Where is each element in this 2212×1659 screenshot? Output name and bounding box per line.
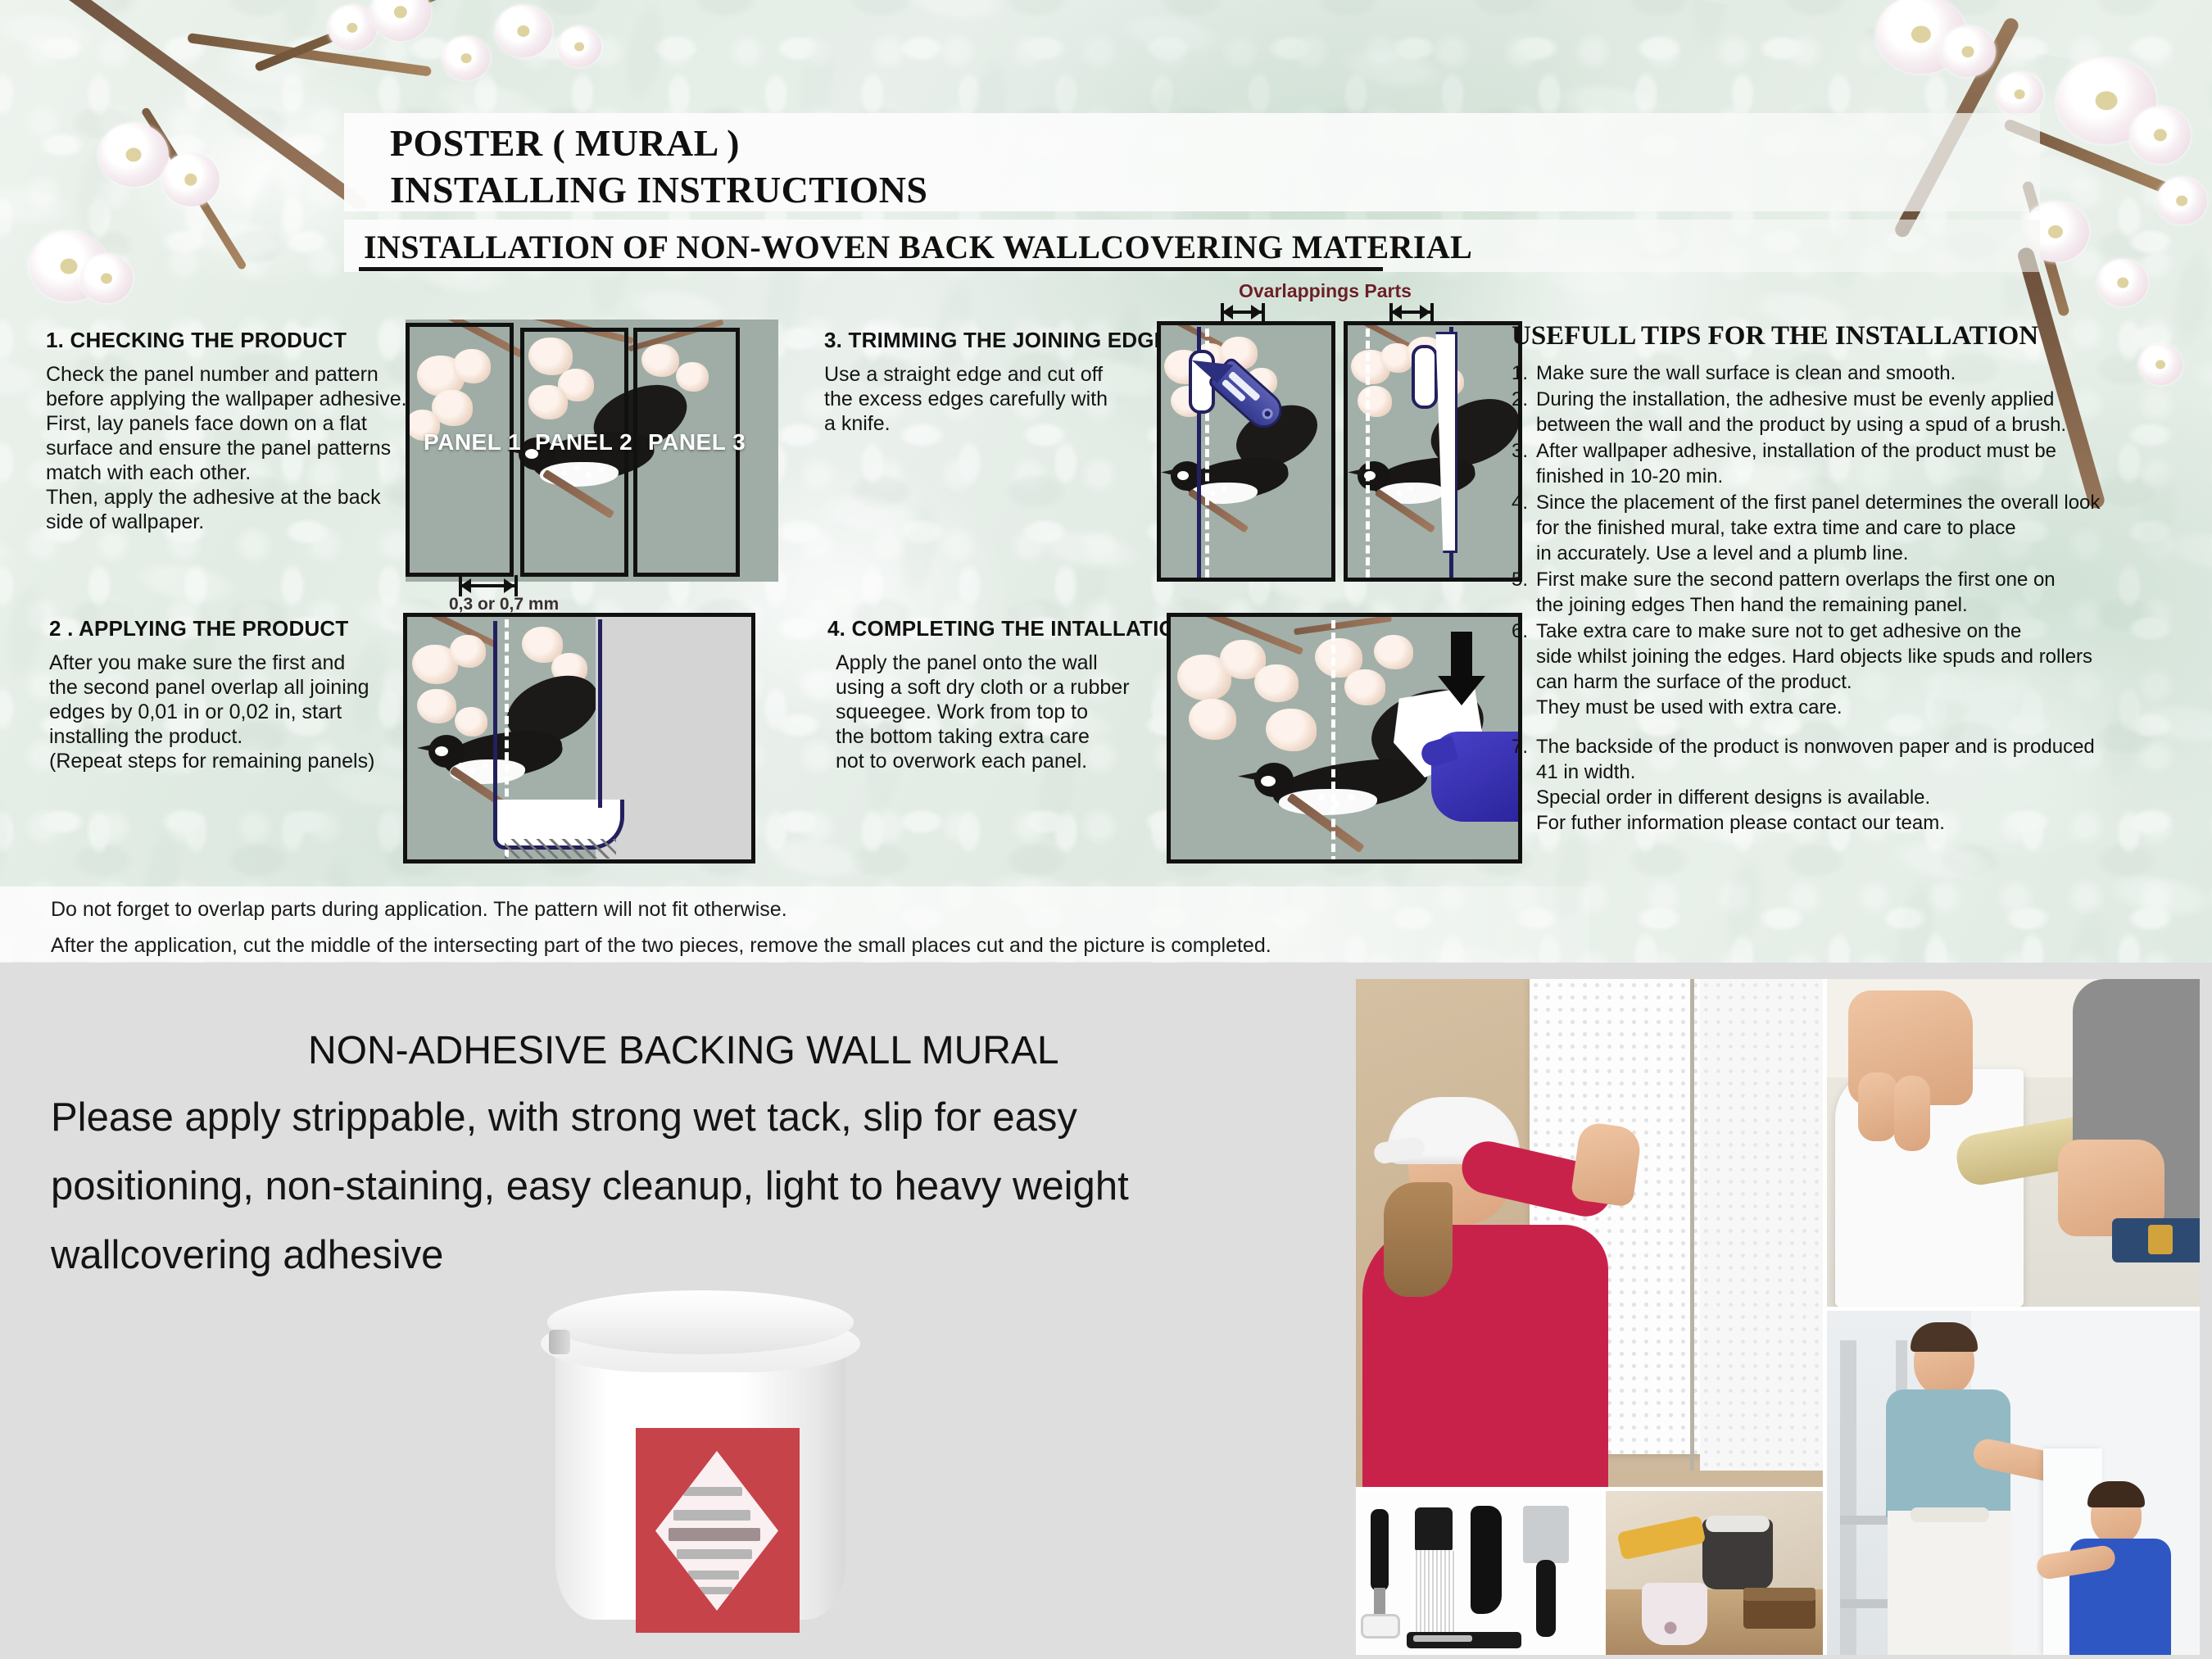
tip-6-text: Take extra care to make sure not to get … bbox=[1536, 619, 2192, 720]
seam-roller-icon bbox=[1371, 1509, 1389, 1591]
step-1-body: Check the panel number and pattern befor… bbox=[46, 362, 407, 534]
tip-6-number: 6. bbox=[1512, 619, 1536, 720]
bottom-title: NON-ADHESIVE BACKING WALL MURAL bbox=[308, 1028, 1059, 1073]
photo-roller-applying-paste bbox=[1827, 979, 2200, 1307]
photo-woman-applying-wallpaper bbox=[1356, 979, 1823, 1487]
diagram-three-panels: PANEL 1 PANEL 2 PANEL 3 bbox=[406, 320, 778, 582]
dimension-tick-right bbox=[514, 575, 518, 596]
bucket-handle-clip bbox=[549, 1330, 570, 1354]
step-4-heading: 4. COMPLETING THE INTALLATION bbox=[827, 616, 1191, 641]
smoothing-brush-icon bbox=[1415, 1507, 1453, 1553]
paste-brush bbox=[1743, 1596, 1815, 1629]
tip-5-number: 5. bbox=[1512, 567, 1536, 618]
step-1-heading: 1. CHECKING THE PRODUCT bbox=[46, 328, 347, 353]
tip-4-text: Since the placement of the first panel d… bbox=[1536, 490, 2192, 566]
step-4-line-1: Apply the panel onto the wall bbox=[836, 650, 1130, 675]
tip-item-4: 4. Since the placement of the first pane… bbox=[1512, 490, 2192, 566]
bottom-body-line-2: positioning, non-staining, easy cleanup,… bbox=[51, 1152, 1345, 1221]
tip-4-number: 4. bbox=[1512, 490, 1536, 566]
step-1-line-6: Then, apply the adhesive at the back bbox=[46, 485, 407, 510]
installation-photo-collage bbox=[1356, 979, 2200, 1655]
tip-7-text: The backside of the product is nonwoven … bbox=[1536, 734, 2192, 836]
tip-item-3: 3. After wallpaper adhesive, installatio… bbox=[1512, 438, 2192, 489]
panel-2-label: PANEL 2 bbox=[535, 429, 632, 456]
step-2-heading: 2 . APPLYING THE PRODUCT bbox=[49, 616, 349, 641]
overlap-tick-4 bbox=[1430, 303, 1434, 321]
squeegee-icon bbox=[1471, 1506, 1502, 1614]
overlap-parts-label: Ovarlappings Parts bbox=[1239, 280, 1412, 302]
tip-item-5: 5. First make sure the second pattern ov… bbox=[1512, 567, 2192, 618]
step-4-line-2: using a soft dry cloth or a rubber bbox=[836, 675, 1130, 700]
tips-spacer bbox=[1512, 721, 2192, 734]
tip-2-number: 2. bbox=[1512, 387, 1536, 437]
tip-5-text: First make sure the second pattern overl… bbox=[1536, 567, 2192, 618]
step-3-body: Use a straight edge and cut off the exce… bbox=[824, 362, 1108, 436]
step-3-line-1: Use a straight edge and cut off bbox=[824, 362, 1108, 387]
bottom-body-line-3: wallcovering adhesive bbox=[51, 1221, 1345, 1290]
putty-knife-icon bbox=[1523, 1506, 1569, 1563]
note-line-1: Do not forget to overlap parts during ap… bbox=[51, 898, 787, 922]
poster-subtitle: INSTALLATION OF NON-WOVEN BACK WALLCOVER… bbox=[364, 228, 1472, 266]
diagram-trimming-left bbox=[1157, 321, 1335, 582]
tip-item-1: 1. Make sure the wall surface is clean a… bbox=[1512, 360, 2192, 386]
man-hair bbox=[1911, 1322, 1978, 1352]
panel-1-label: PANEL 1 bbox=[424, 429, 521, 456]
tips-list: 1. Make sure the wall surface is clean a… bbox=[1512, 360, 2192, 836]
hatched-cut-area bbox=[505, 839, 616, 859]
diagram-completing bbox=[1167, 613, 1522, 863]
step-2-body: After you make sure the first and the se… bbox=[49, 650, 374, 773]
step-1-line-2: before applying the wallpaper adhesive. bbox=[46, 387, 407, 411]
dimension-label: 0,3 or 0,7 mm bbox=[449, 595, 559, 614]
adhesive-bucket-image bbox=[541, 1290, 860, 1634]
bucket-lid bbox=[547, 1290, 854, 1354]
note-line-2: After the application, cut the middle of… bbox=[51, 934, 1271, 958]
bottom-body: Please apply strippable, with strong wet… bbox=[51, 1083, 1345, 1290]
poster-title-line1: POSTER ( MURAL ) bbox=[390, 121, 740, 165]
tip-3-number: 3. bbox=[1512, 438, 1536, 489]
step-3-line-2: the excess edges carefully with bbox=[824, 387, 1108, 411]
step-4-line-3: squeegee. Work from top to bbox=[836, 700, 1130, 724]
tip-1-text: Make sure the wall surface is clean and … bbox=[1536, 360, 2192, 386]
step-4-body: Apply the panel onto the wall using a so… bbox=[836, 650, 1130, 773]
tips-heading: USEFULL TIPS FOR THE INSTALLATION bbox=[1512, 321, 2038, 351]
step-2-line-1: After you make sure the first and bbox=[49, 650, 374, 675]
step-1-line-4: surface and ensure the panel patterns bbox=[46, 436, 407, 460]
tip-item-2: 2. During the installation, the adhesive… bbox=[1512, 387, 2192, 437]
overlap-arrow-2 bbox=[1391, 310, 1430, 314]
subtitle-underline bbox=[359, 267, 1383, 271]
trim-dashed-line-right bbox=[1366, 329, 1370, 578]
step-4-line-4: the bottom taking extra care bbox=[836, 724, 1130, 749]
tip-1-number: 1. bbox=[1512, 360, 1536, 386]
tip-3-text: After wallpaper adhesive, installation o… bbox=[1536, 438, 2192, 489]
photo-tool-set bbox=[1356, 1491, 1602, 1655]
step-2-line-5: (Repeat steps for remaining panels) bbox=[49, 749, 374, 773]
step-1-line-1: Check the panel number and pattern bbox=[46, 362, 407, 387]
ruler-handle-right bbox=[1412, 345, 1438, 409]
down-arrow-icon bbox=[1451, 632, 1472, 679]
bottom-body-line-1: Please apply strippable, with strong wet… bbox=[51, 1083, 1345, 1152]
step-1-line-5: match with each other. bbox=[46, 460, 407, 485]
instructions-section: POSTER ( MURAL ) INSTALLING INSTRUCTIONS… bbox=[0, 0, 2212, 963]
step-4-line-5: not to overwork each panel. bbox=[836, 749, 1130, 773]
step-3-line-3: a knife. bbox=[824, 411, 1108, 436]
down-arrow-head bbox=[1438, 676, 1485, 705]
diagram-trimming-right bbox=[1344, 321, 1522, 582]
step-2-line-2: the second panel overlap all joining bbox=[49, 675, 374, 700]
tip-2-text: During the installation, the adhesive mu… bbox=[1536, 387, 2192, 437]
woman-hand bbox=[1571, 1121, 1643, 1208]
dimension-arrow bbox=[460, 584, 514, 587]
apron-tie bbox=[1911, 1507, 1989, 1522]
overlap-tick-2 bbox=[1262, 303, 1265, 321]
woman-hair bbox=[1384, 1182, 1453, 1297]
instruction-sheet: POSTER ( MURAL ) INSTALLING INSTRUCTIONS… bbox=[0, 0, 2212, 1659]
overlap-right-panel-edge bbox=[598, 619, 602, 808]
photo-paste-and-brushes bbox=[1606, 1491, 1823, 1655]
tip-7-number: 7. bbox=[1512, 734, 1536, 836]
photo-man-and-boy-hanging-wallpaper bbox=[1827, 1311, 2200, 1655]
step-2-line-4: installing the product. bbox=[49, 724, 374, 749]
panel-3-label: PANEL 3 bbox=[648, 429, 746, 456]
center-dashed-line bbox=[1331, 620, 1335, 863]
step-1-line-3: First, lay panels face down on a flat bbox=[46, 411, 407, 436]
step-1-line-7: side of wallpaper. bbox=[46, 510, 407, 534]
man-trousers bbox=[1888, 1511, 2012, 1655]
poster-title-line2: INSTALLING INSTRUCTIONS bbox=[390, 168, 927, 211]
step-3-heading: 3. TRIMMING THE JOINING EDGES bbox=[824, 328, 1183, 353]
overlap-arrow-1 bbox=[1222, 310, 1262, 314]
step-2-line-3: edges by 0,01 in or 0,02 in, start bbox=[49, 700, 374, 724]
tip-item-6: 6. Take extra care to make sure not to g… bbox=[1512, 619, 2192, 720]
yellow-tool bbox=[1617, 1516, 1707, 1561]
boy-hair bbox=[2087, 1481, 2145, 1507]
diagram-overlap-detail bbox=[403, 613, 755, 863]
tip-item-7: 7. The backside of the product is nonwov… bbox=[1512, 734, 2192, 836]
